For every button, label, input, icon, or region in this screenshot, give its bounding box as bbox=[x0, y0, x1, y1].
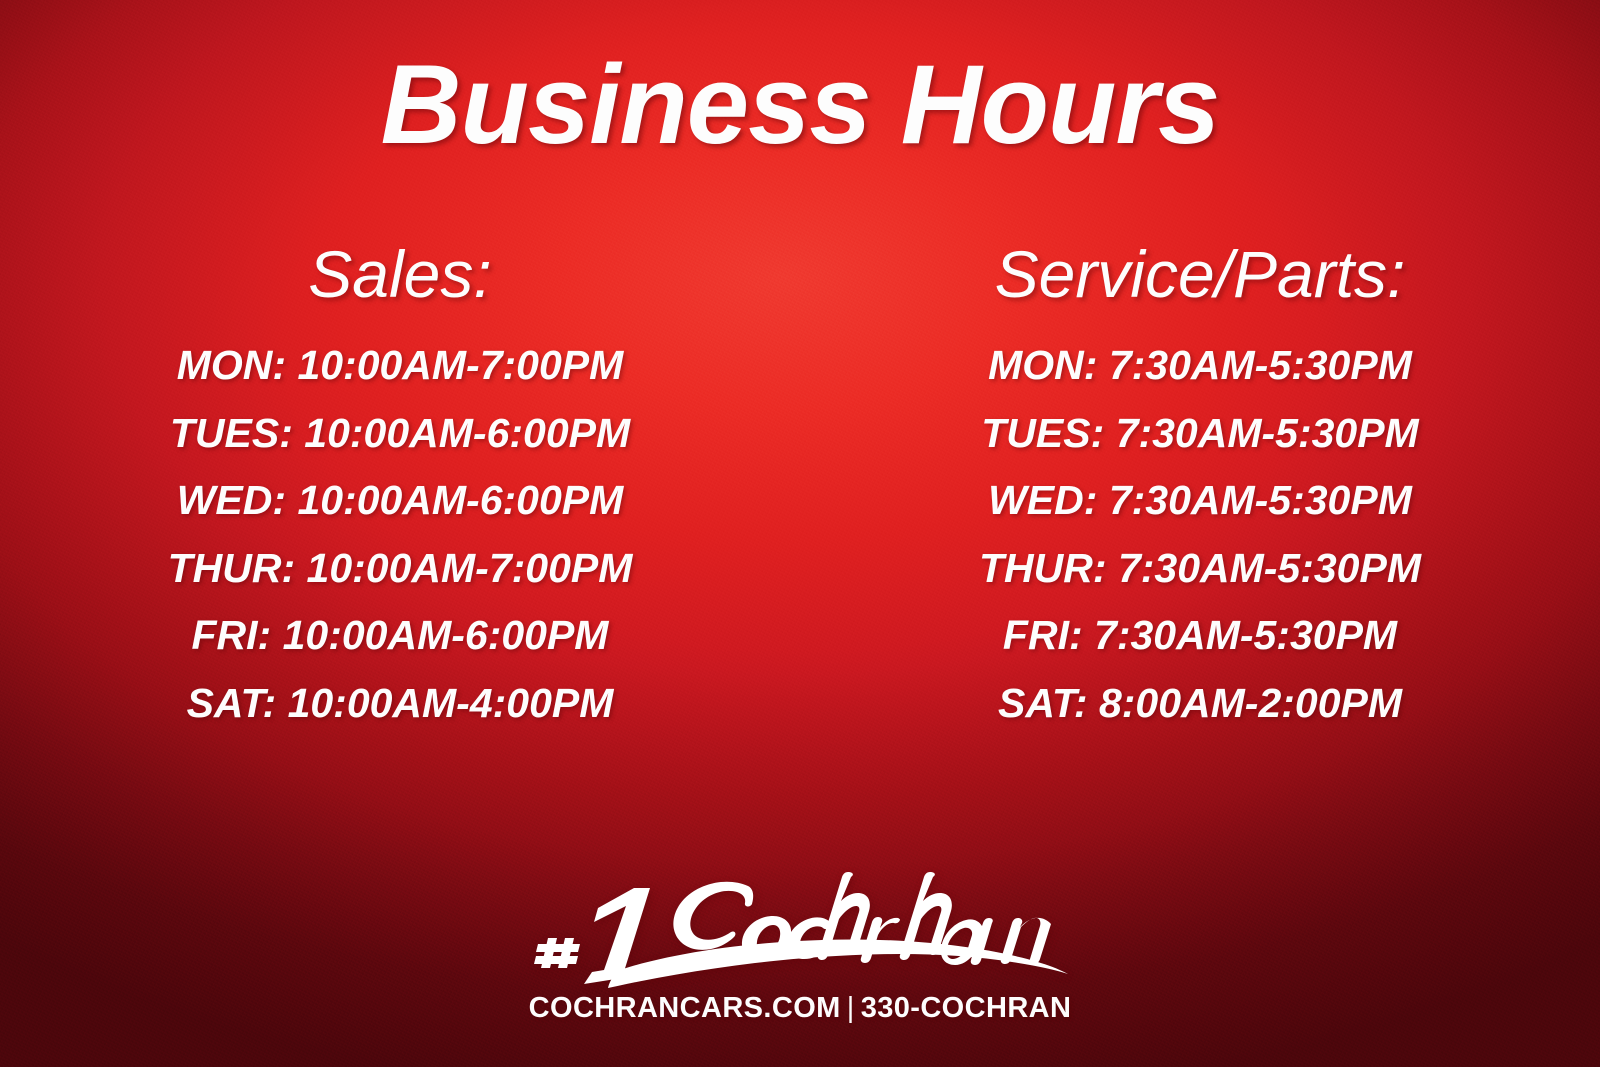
cochran-logo bbox=[530, 852, 1070, 992]
hours-row: MON: 10:00AM-7:00PM bbox=[0, 332, 800, 400]
hours-row: THUR: 7:30AM-5:30PM bbox=[800, 535, 1600, 603]
brand-contact-line: COCHRANCARS.COM|330-COCHRAN bbox=[0, 994, 1600, 1023]
hours-row: FRI: 7:30AM-5:30PM bbox=[800, 602, 1600, 670]
hours-day-label: SAT: bbox=[998, 680, 1088, 726]
hours-day-label: MON: bbox=[988, 342, 1097, 388]
brand-separator: | bbox=[841, 992, 861, 1024]
hours-row: TUES: 7:30AM-5:30PM bbox=[800, 400, 1600, 468]
business-hours-poster: Business Hours Sales: MON: 10:00AM-7:00P… bbox=[0, 0, 1600, 1067]
hours-row: SAT: 8:00AM-2:00PM bbox=[800, 670, 1600, 738]
column-heading-service-parts: Service/Parts: bbox=[800, 236, 1600, 314]
hours-list-service-parts: MON: 7:30AM-5:30PM TUES: 7:30AM-5:30PM W… bbox=[800, 332, 1600, 738]
hours-row: WED: 7:30AM-5:30PM bbox=[800, 467, 1600, 535]
hours-day-label: WED: bbox=[177, 477, 286, 523]
brand-phone[interactable]: 330-COCHRAN bbox=[861, 992, 1072, 1024]
hours-time-value: 7:30AM-5:30PM bbox=[1116, 410, 1419, 456]
hours-column-service-parts: Service/Parts: MON: 7:30AM-5:30PM TUES: … bbox=[800, 236, 1600, 738]
hours-day-label: THUR: bbox=[979, 545, 1107, 591]
hours-row: MON: 7:30AM-5:30PM bbox=[800, 332, 1600, 400]
hours-day-label: FRI: bbox=[1003, 612, 1083, 658]
hours-time-value: 10:00AM-7:00PM bbox=[307, 545, 633, 591]
hours-day-label: MON: bbox=[177, 342, 286, 388]
hours-day-label: TUES: bbox=[981, 410, 1104, 456]
hours-time-value: 10:00AM-6:00PM bbox=[297, 477, 623, 523]
hours-day-label: TUES: bbox=[170, 410, 293, 456]
hours-time-value: 7:30AM-5:30PM bbox=[1094, 612, 1397, 658]
hours-time-value: 7:30AM-5:30PM bbox=[1109, 342, 1412, 388]
hours-day-label: SAT: bbox=[187, 680, 277, 726]
hours-time-value: 10:00AM-7:00PM bbox=[297, 342, 623, 388]
brand-block: COCHRANCARS.COM|330-COCHRAN bbox=[0, 852, 1600, 1023]
hours-column-sales: Sales: MON: 10:00AM-7:00PM TUES: 10:00AM… bbox=[0, 236, 800, 738]
hours-row: SAT: 10:00AM-4:00PM bbox=[0, 670, 800, 738]
hours-row: WED: 10:00AM-6:00PM bbox=[0, 467, 800, 535]
hours-time-value: 10:00AM-6:00PM bbox=[283, 612, 609, 658]
hours-time-value: 8:00AM-2:00PM bbox=[1099, 680, 1402, 726]
hours-time-value: 10:00AM-6:00PM bbox=[304, 410, 630, 456]
hours-time-value: 7:30AM-5:30PM bbox=[1109, 477, 1412, 523]
hours-row: THUR: 10:00AM-7:00PM bbox=[0, 535, 800, 603]
hours-columns: Sales: MON: 10:00AM-7:00PM TUES: 10:00AM… bbox=[0, 236, 1600, 738]
logo-swoosh bbox=[608, 940, 1068, 989]
hours-day-label: THUR: bbox=[168, 545, 296, 591]
logo-hash-glyph bbox=[534, 938, 580, 968]
page-title: Business Hours bbox=[0, 46, 1600, 164]
hours-time-value: 10:00AM-4:00PM bbox=[288, 680, 614, 726]
hours-row: FRI: 10:00AM-6:00PM bbox=[0, 602, 800, 670]
brand-website[interactable]: COCHRANCARS.COM bbox=[529, 992, 841, 1024]
hours-day-label: WED: bbox=[988, 477, 1097, 523]
hours-day-label: FRI: bbox=[192, 612, 272, 658]
hours-row: TUES: 10:00AM-6:00PM bbox=[0, 400, 800, 468]
column-heading-sales: Sales: bbox=[0, 236, 800, 314]
hours-list-sales: MON: 10:00AM-7:00PM TUES: 10:00AM-6:00PM… bbox=[0, 332, 800, 738]
hours-time-value: 7:30AM-5:30PM bbox=[1118, 545, 1421, 591]
